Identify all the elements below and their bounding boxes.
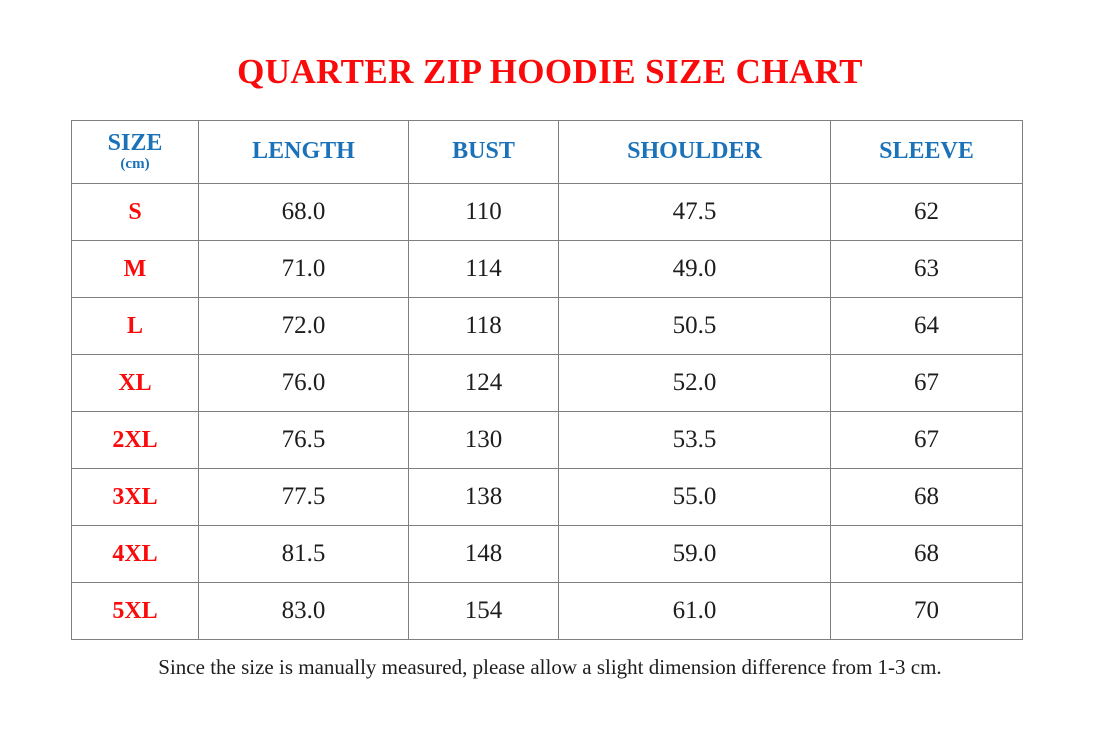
table-header: SIZE (cm) LENGTH BUST SHOULDER SLEEVE <box>72 121 1023 184</box>
column-header-size: SIZE (cm) <box>72 121 199 184</box>
cell-shoulder: 52.0 <box>559 355 831 412</box>
column-header-sleeve: SLEEVE <box>831 121 1023 184</box>
cell-shoulder: 50.5 <box>559 298 831 355</box>
cell-shoulder: 59.0 <box>559 526 831 583</box>
cell-shoulder: 55.0 <box>559 469 831 526</box>
cell-length: 76.0 <box>199 355 409 412</box>
cell-size: XL <box>72 355 199 412</box>
table-row: S 68.0 110 47.5 62 <box>72 184 1023 241</box>
cell-size: 5XL <box>72 583 199 640</box>
cell-bust: 110 <box>409 184 559 241</box>
cell-sleeve: 62 <box>831 184 1023 241</box>
cell-bust: 114 <box>409 241 559 298</box>
cell-bust: 154 <box>409 583 559 640</box>
cell-bust: 130 <box>409 412 559 469</box>
column-header-size-label: SIZE <box>108 130 163 156</box>
size-chart-table: SIZE (cm) LENGTH BUST SHOULDER SLEEVE S … <box>71 120 1023 640</box>
cell-shoulder: 53.5 <box>559 412 831 469</box>
table-row: 5XL 83.0 154 61.0 70 <box>72 583 1023 640</box>
cell-size: S <box>72 184 199 241</box>
column-header-size-unit: (cm) <box>72 157 198 173</box>
column-header-shoulder: SHOULDER <box>559 121 831 184</box>
table-row: XL 76.0 124 52.0 67 <box>72 355 1023 412</box>
header-row: SIZE (cm) LENGTH BUST SHOULDER SLEEVE <box>72 121 1023 184</box>
cell-length: 72.0 <box>199 298 409 355</box>
cell-size: 4XL <box>72 526 199 583</box>
column-header-length: LENGTH <box>199 121 409 184</box>
cell-sleeve: 67 <box>831 355 1023 412</box>
cell-length: 68.0 <box>199 184 409 241</box>
cell-sleeve: 67 <box>831 412 1023 469</box>
cell-size: M <box>72 241 199 298</box>
cell-bust: 124 <box>409 355 559 412</box>
cell-length: 83.0 <box>199 583 409 640</box>
cell-size: 3XL <box>72 469 199 526</box>
cell-length: 81.5 <box>199 526 409 583</box>
cell-shoulder: 61.0 <box>559 583 831 640</box>
cell-shoulder: 47.5 <box>559 184 831 241</box>
cell-length: 71.0 <box>199 241 409 298</box>
table-row: 3XL 77.5 138 55.0 68 <box>72 469 1023 526</box>
cell-shoulder: 49.0 <box>559 241 831 298</box>
page-title: QUARTER ZIP HOODIE SIZE CHART <box>0 52 1100 92</box>
table-row: 4XL 81.5 148 59.0 68 <box>72 526 1023 583</box>
cell-sleeve: 68 <box>831 526 1023 583</box>
cell-length: 77.5 <box>199 469 409 526</box>
table-row: M 71.0 114 49.0 63 <box>72 241 1023 298</box>
cell-length: 76.5 <box>199 412 409 469</box>
cell-sleeve: 70 <box>831 583 1023 640</box>
cell-sleeve: 63 <box>831 241 1023 298</box>
cell-sleeve: 64 <box>831 298 1023 355</box>
cell-bust: 138 <box>409 469 559 526</box>
table-body: S 68.0 110 47.5 62 M 71.0 114 49.0 63 L … <box>72 184 1023 640</box>
cell-size: L <box>72 298 199 355</box>
table-row: L 72.0 118 50.5 64 <box>72 298 1023 355</box>
cell-size: 2XL <box>72 412 199 469</box>
table-row: 2XL 76.5 130 53.5 67 <box>72 412 1023 469</box>
column-header-bust: BUST <box>409 121 559 184</box>
cell-bust: 148 <box>409 526 559 583</box>
cell-sleeve: 68 <box>831 469 1023 526</box>
size-chart-page: QUARTER ZIP HOODIE SIZE CHART SIZE (cm) … <box>0 0 1100 755</box>
cell-bust: 118 <box>409 298 559 355</box>
measurement-disclaimer: Since the size is manually measured, ple… <box>0 655 1100 680</box>
